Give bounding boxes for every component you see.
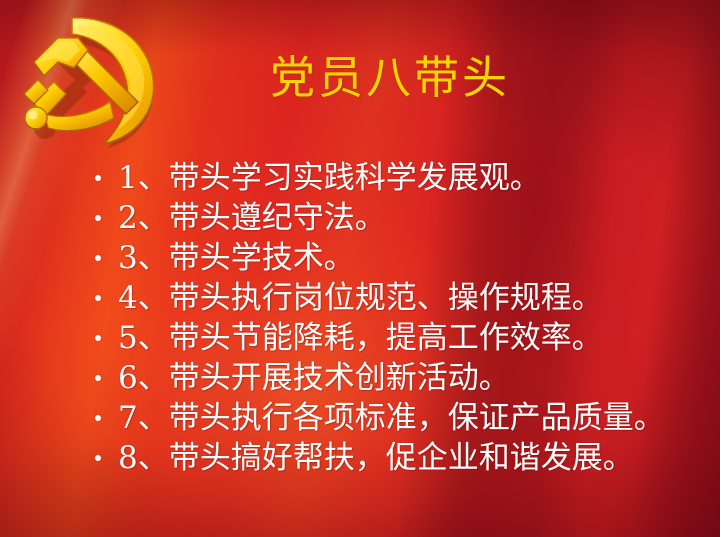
list-item: 1、带头学习实践科学发展观。 — [92, 158, 704, 198]
list-item-text: 4、带头执行岗位规范、操作规程。 — [92, 278, 603, 318]
list-item: 4、带头执行岗位规范、操作规程。 — [92, 278, 704, 318]
bullet-dot-icon — [95, 375, 101, 381]
list-item-text: 7、带头执行各项标准，保证产品质量。 — [92, 398, 665, 438]
bullet-dot-icon — [95, 295, 101, 301]
hammer-and-sickle-icon — [14, 10, 182, 152]
list-item-text: 6、带头开展技术创新活动。 — [92, 358, 510, 398]
list-item: 6、带头开展技术创新活动。 — [92, 358, 704, 398]
bullet-dot-icon — [95, 255, 101, 261]
bullet-list: 1、带头学习实践科学发展观。 2、带头遵纪守法。 3、带头学技术。 4、带头执行… — [92, 158, 704, 478]
presentation-slide: 党员八带头 1、带头学习实践科学发展观。 2、带头遵纪守法。 3、带头学技术。 … — [0, 0, 720, 537]
bullet-dot-icon — [95, 175, 101, 181]
bullet-dot-icon — [95, 455, 101, 461]
list-item: 2、带头遵纪守法。 — [92, 198, 704, 238]
list-item-text: 1、带头学习实践科学发展观。 — [92, 158, 541, 198]
list-item: 5、带头节能降耗，提高工作效率。 — [92, 318, 704, 358]
list-item: 8、带头搞好帮扶，促企业和谐发展。 — [92, 438, 704, 478]
list-item: 3、带头学技术。 — [92, 238, 704, 278]
bullet-dot-icon — [95, 335, 101, 341]
list-item-text: 2、带头遵纪守法。 — [92, 198, 386, 238]
list-item-text: 8、带头搞好帮扶，促企业和谐发展。 — [92, 438, 634, 478]
list-item-text: 3、带头学技术。 — [92, 238, 355, 278]
list-item-text: 5、带头节能降耗，提高工作效率。 — [92, 318, 603, 358]
list-item: 7、带头执行各项标准，保证产品质量。 — [92, 398, 704, 438]
bullet-dot-icon — [95, 415, 101, 421]
bullet-dot-icon — [95, 215, 101, 221]
slide-title: 党员八带头 — [190, 50, 590, 106]
